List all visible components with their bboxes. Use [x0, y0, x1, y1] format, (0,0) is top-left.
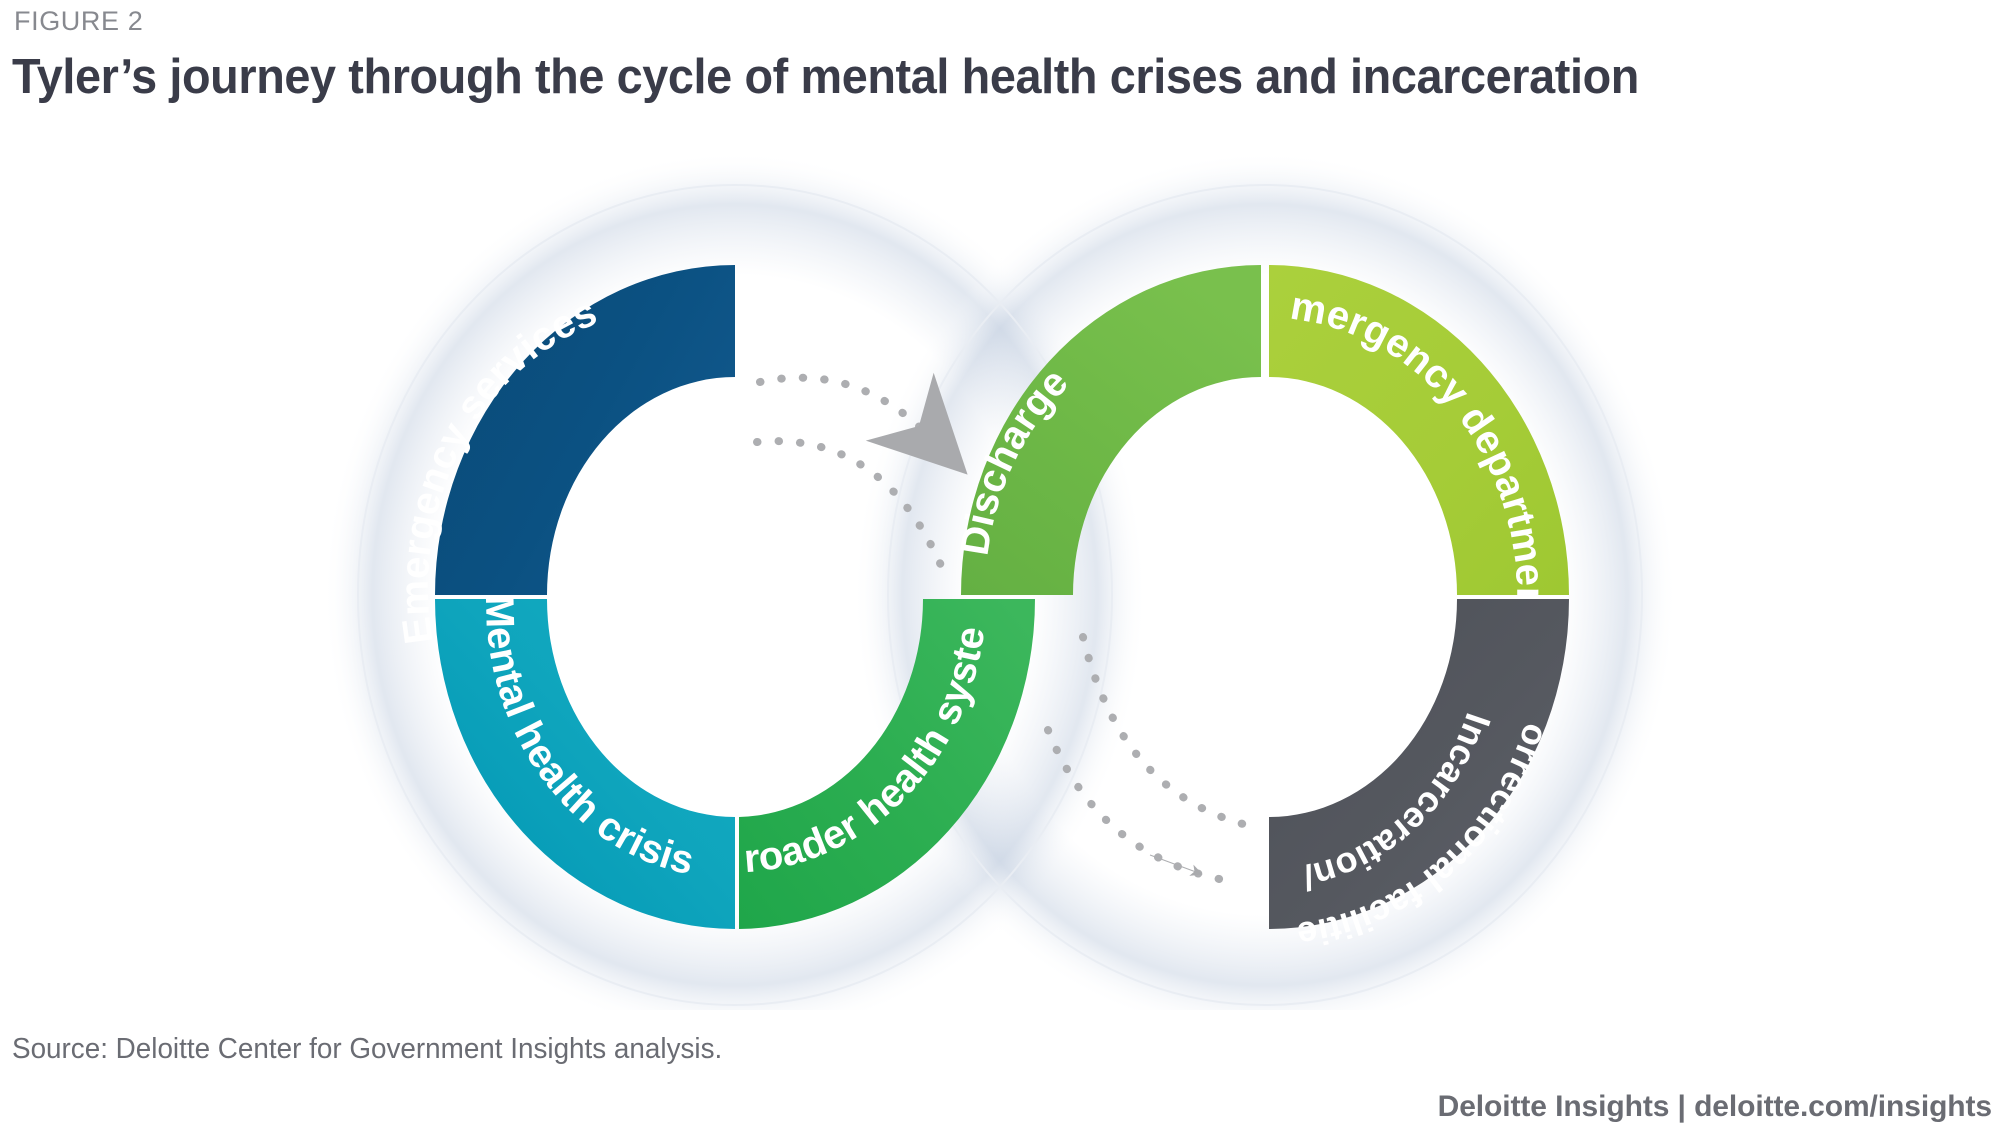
brand-footer: Deloitte Insights | deloitte.com/insight…	[1438, 1090, 1992, 1124]
figure-container: FIGURE 2 Tyler’s journey through the cyc…	[0, 0, 2000, 1148]
cycle-diagram: Emergency services Mental health crisis …	[0, 130, 2000, 1010]
source-note: Source: Deloitte Center for Government I…	[12, 1033, 722, 1066]
cycle-diagram-svg: Emergency services Mental health crisis …	[0, 130, 2000, 1010]
page-title: Tyler’s journey through the cycle of men…	[12, 48, 1639, 106]
figure-eyebrow: FIGURE 2	[14, 6, 143, 37]
